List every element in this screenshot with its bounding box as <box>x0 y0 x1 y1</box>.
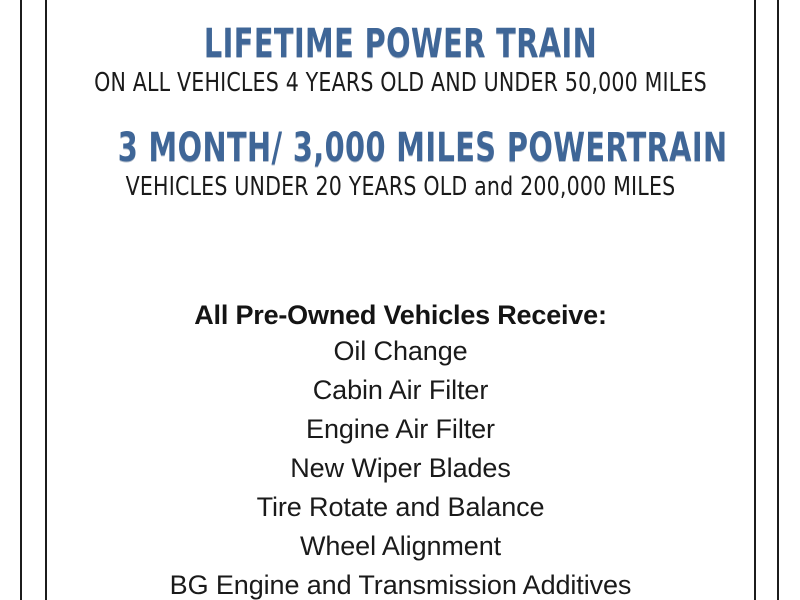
list-item: Wheel Alignment <box>47 527 754 566</box>
warranty-poster: LIFETIME POWER TRAIN ON ALL VEHICLES 4 Y… <box>0 0 800 600</box>
poster-content: LIFETIME POWER TRAIN ON ALL VEHICLES 4 Y… <box>47 0 754 600</box>
warranty-title-three-month: 3 MONTH/ 3,000 MILES POWERTRAIN <box>118 126 684 170</box>
warranty-subtitle-lifetime: ON ALL VEHICLES 4 YEARS OLD AND UNDER 50… <box>89 68 711 98</box>
list-item: Engine Air Filter <box>47 410 754 449</box>
services-section: All Pre-Owned Vehicles Receive: Oil Chan… <box>47 298 754 600</box>
warranty-block-lifetime: LIFETIME POWER TRAIN ON ALL VEHICLES 4 Y… <box>47 0 754 98</box>
list-item: New Wiper Blades <box>47 449 754 488</box>
services-list: Oil Change Cabin Air Filter Engine Air F… <box>47 332 754 600</box>
list-item: BG Engine and Transmission Additives <box>47 566 754 600</box>
frame-rule-right-outer <box>777 0 779 600</box>
warranty-title-lifetime: LIFETIME POWER TRAIN <box>118 22 684 66</box>
frame-rule-left-outer <box>20 0 22 600</box>
list-item: Oil Change <box>47 332 754 371</box>
warranty-block-three-month: 3 MONTH/ 3,000 MILES POWERTRAIN VEHICLES… <box>47 98 754 202</box>
services-heading: All Pre-Owned Vehicles Receive: <box>47 298 754 332</box>
frame-rule-right-inner <box>754 0 756 600</box>
list-item: Cabin Air Filter <box>47 371 754 410</box>
list-item: Tire Rotate and Balance <box>47 488 754 527</box>
warranty-subtitle-three-month: VEHICLES UNDER 20 YEARS OLD and 200,000 … <box>89 172 711 202</box>
